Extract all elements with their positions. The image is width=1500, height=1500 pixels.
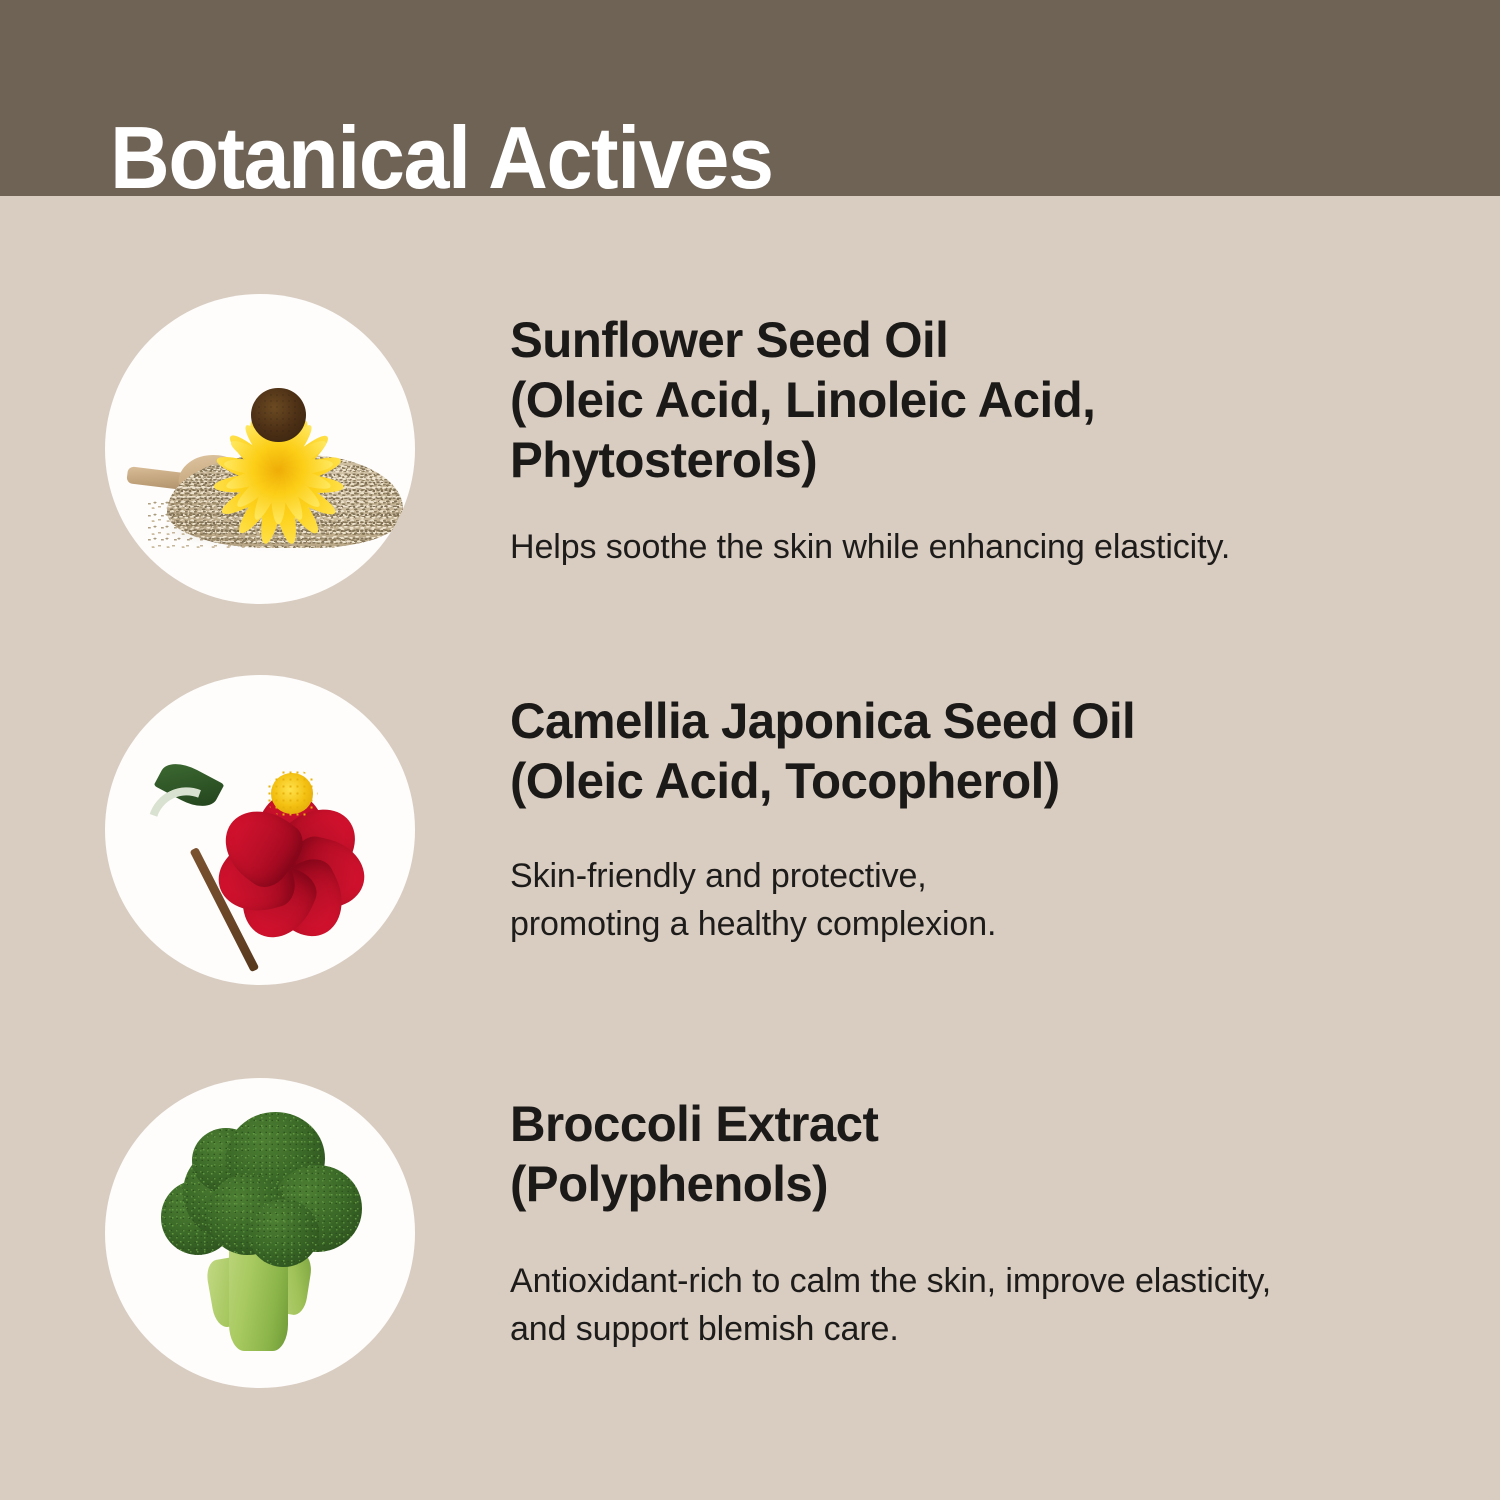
ingredient-item-sunflower-seed-oil: Sunflower Seed Oil (Oleic Acid, Linoleic… <box>0 294 1500 604</box>
camellia-bloom <box>207 712 374 873</box>
ingredient-title: Sunflower Seed Oil (Oleic Acid, Linoleic… <box>510 310 1485 490</box>
image-circle-mask <box>105 1078 415 1388</box>
ingredient-list: Sunflower Seed Oil (Oleic Acid, Linoleic… <box>0 196 1500 1500</box>
ingredient-item-broccoli-extract: Broccoli Extract (Polyphenols) Antioxida… <box>0 1078 1500 1388</box>
ingredient-text-block: Sunflower Seed Oil (Oleic Acid, Linoleic… <box>510 294 1500 572</box>
ingredient-description: Helps soothe the skin while enhancing el… <box>510 524 1500 572</box>
botanical-actives-infographic: Botanical Actives <box>0 0 1500 1500</box>
sunflower-disc-center <box>251 388 306 443</box>
broccoli-illustration <box>105 1078 415 1388</box>
ingredient-description: Antioxidant-rich to calm the skin, impro… <box>510 1258 1500 1353</box>
header-band: Botanical Actives <box>0 0 1500 196</box>
sunflower-seed-oil-image <box>105 294 415 604</box>
sunflower-illustration <box>105 294 415 604</box>
camellia-stamens <box>271 773 313 813</box>
image-circle-mask <box>105 675 415 985</box>
ingredient-title: Broccoli Extract (Polyphenols) <box>510 1094 1485 1214</box>
ingredient-text-block: Broccoli Extract (Polyphenols) Antioxida… <box>510 1078 1500 1353</box>
ingredient-text-block: Camellia Japonica Seed Oil (Oleic Acid, … <box>510 675 1500 948</box>
image-circle-mask <box>105 294 415 604</box>
broccoli-extract-image <box>105 1078 415 1388</box>
broccoli-floret <box>248 1199 319 1267</box>
camellia-illustration <box>105 675 415 985</box>
ingredient-item-camellia-japonica-seed-oil: Camellia Japonica Seed Oil (Oleic Acid, … <box>0 675 1500 985</box>
camellia-japonica-seed-oil-image <box>105 675 415 985</box>
sunflower-head <box>214 350 344 480</box>
page-title: Botanical Actives <box>110 114 773 202</box>
ingredient-title: Camellia Japonica Seed Oil (Oleic Acid, … <box>510 691 1485 811</box>
ingredient-description: Skin-friendly and protective, promoting … <box>510 853 1500 948</box>
